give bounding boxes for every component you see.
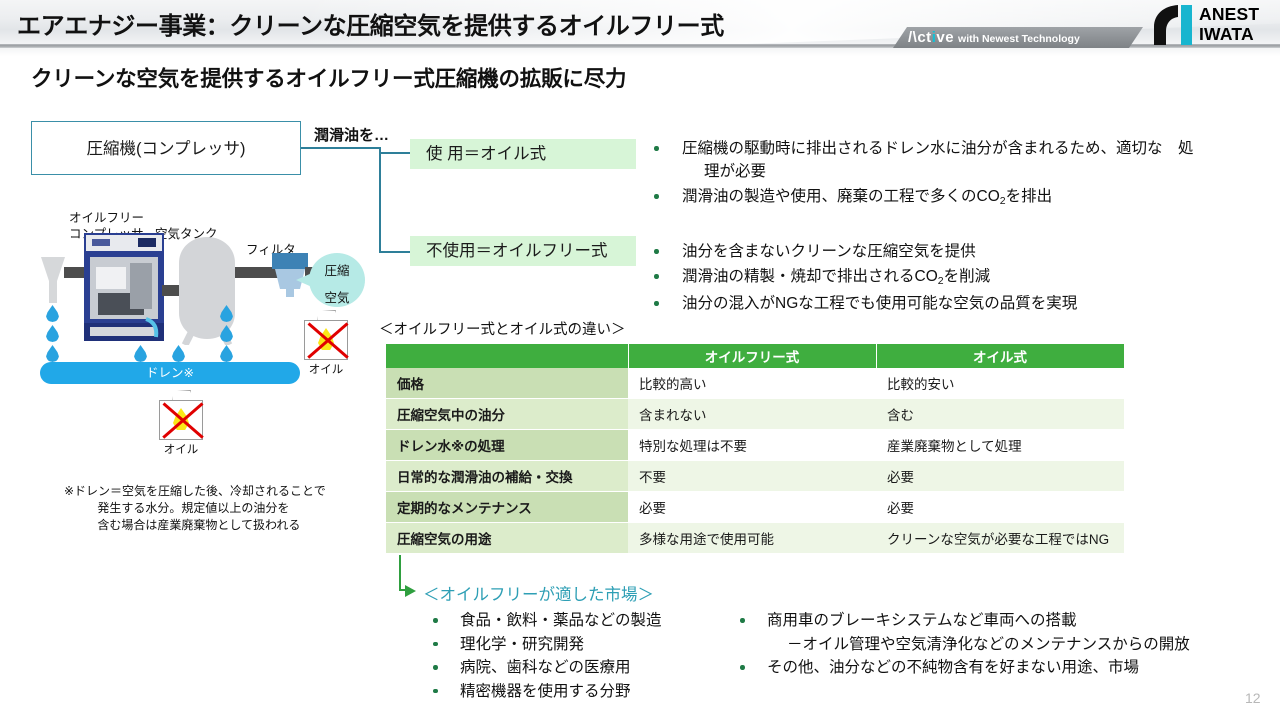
list-item: 理化学・研究開発 — [424, 633, 724, 657]
oil-bullet-list: 圧縮機の駆動時に排出されるドレン水に油分が含まれるため、適切な 処 理が必要 潤… — [644, 137, 1264, 212]
row-label: 圧縮空気中の油分 — [386, 399, 628, 430]
ribbon-brand-a: /\ct — [908, 29, 932, 46]
table-row: 圧縮空気の用途 多様な用途で使用可能 クリーンな空気が必要な工程ではNG — [386, 523, 1124, 554]
table-caption: ＜オイルフリー式とオイル式の違い＞ — [379, 318, 626, 339]
branch-box-oilfree: 不使用＝オイルフリー式 — [410, 236, 636, 266]
row-label: ドレン水※の処理 — [386, 430, 628, 461]
logo-text-line1: ANEST — [1199, 4, 1259, 24]
bubble-line1: 圧縮 — [309, 253, 365, 280]
water-drop — [46, 345, 59, 362]
table-header-row: オイルフリー式 オイル式 — [386, 344, 1124, 368]
no-oil-icon-right: オイル — [304, 315, 350, 361]
bullet-item: 潤滑油の製造や使用、廃棄の工程で多くのCO2を排出 — [644, 185, 1264, 210]
drain-footnote: ※ドレン＝空気を圧縮した後、冷却されることで 発生する水分。規定値以上の油分を … — [64, 483, 326, 534]
bullet-text: 圧縮機の駆動時に排出されるドレン水に油分が含まれるため、適切な 処 — [682, 140, 1194, 157]
cell-oil: 必要 — [876, 461, 1124, 492]
no-oil-caption: オイル — [159, 441, 203, 457]
branch-box-oilfree-label: 不使用＝オイルフリー式 — [426, 242, 608, 260]
list-item-text: 商用車のブレーキシステムなど車両への搭載 — [767, 612, 1077, 629]
bullet-item: 油分を含まないクリーンな圧縮空気を提供 — [644, 240, 1264, 263]
branch-box-oil-label: 使 用＝オイル式 — [426, 145, 546, 163]
drain-bar-label: ドレン※ — [40, 362, 300, 384]
ribbon-brand-b: ve — [936, 29, 954, 46]
anest-iwata-logo: ANEST IWATA — [1148, 3, 1276, 47]
table-header-cell-blank — [386, 344, 628, 368]
list-item: 食品・飲料・薬品などの製造 — [424, 609, 724, 633]
connector-branch-oil — [379, 152, 411, 154]
oilfree-compressor-icon — [84, 233, 164, 341]
water-drop — [220, 345, 233, 362]
list-item-subtext: －オイル管理や空気清浄化などのメンテナンスからの開放 — [767, 633, 1271, 657]
cell-oil: クリーンな空気が必要な工程ではNG — [876, 523, 1124, 554]
table-row: 定期的なメンテナンス 必要 必要 — [386, 492, 1124, 523]
row-label: 定期的なメンテナンス — [386, 492, 628, 523]
compressor-box-label: 圧縮機(コンプレッサ) — [32, 122, 300, 176]
water-drop — [46, 305, 59, 322]
row-label: 日常的な潤滑油の補給・交換 — [386, 461, 628, 492]
cell-oil: 含む — [876, 399, 1124, 430]
intake-funnel-icon — [39, 257, 67, 303]
lubricant-label: 潤滑油を… — [314, 124, 389, 145]
cell-oil: 産業廃棄物として処理 — [876, 430, 1124, 461]
row-label: 圧縮空気の用途 — [386, 523, 628, 554]
compressor-box: 圧縮機(コンプレッサ) — [31, 121, 301, 175]
page-title: エアエナジー事業：クリーンな圧縮空気を提供するオイルフリー式 — [17, 6, 917, 41]
table-row: 価格 比較的高い 比較的安い — [386, 368, 1124, 399]
bullet-item: 潤滑油の精製・焼却で排出されるCO2を削減 — [644, 265, 1264, 290]
water-drop — [46, 325, 59, 342]
bubble-line2: 空気 — [309, 280, 365, 307]
oilfree-bullet-list: 油分を含まないクリーンな圧縮空気を提供 潤滑油の精製・焼却で排出されるCO2を削… — [644, 240, 1264, 317]
cell-oilfree: 不要 — [628, 461, 876, 492]
market-heading: ＜オイルフリーが適した市場＞ — [423, 581, 654, 605]
header-divider-shadow — [0, 48, 1280, 56]
table-row: ドレン水※の処理 特別な処理は不要 産業廃棄物として処理 — [386, 430, 1124, 461]
cell-oilfree: 多様な用途で使用可能 — [628, 523, 876, 554]
ribbon-tagline: with Newest Technology — [958, 33, 1080, 45]
co2-subscript: 2 — [938, 275, 944, 287]
comparison-table: オイルフリー式 オイル式 価格 比較的高い 比較的安い 圧縮空気中の油分 含まれ… — [386, 344, 1125, 554]
table-header-cell-oil: オイル式 — [876, 344, 1124, 368]
slide-root: エアエナジー事業：クリーンな圧縮空気を提供するオイルフリー式 /\ctivewi… — [0, 0, 1280, 720]
market-list-left: 食品・飲料・薬品などの製造 理化学・研究開発 病院、歯科などの医療用 精密機器を… — [424, 609, 724, 703]
compressed-air-bubble: 圧縮 空気 — [309, 253, 365, 307]
water-drop — [134, 345, 147, 362]
bullet-item: 油分の混入がNGな工程でも使用可能な空気の品質を実現 — [644, 292, 1264, 315]
market-arrow-stem — [399, 555, 401, 591]
bullet-item: 圧縮機の駆動時に排出されるドレン水に油分が含まれるため、適切な 処 理が必要 — [644, 137, 1264, 183]
table-row: 日常的な潤滑油の補給・交換 不要 必要 — [386, 461, 1124, 492]
logo-text-line2: IWATA — [1199, 24, 1259, 44]
connector-vertical-trunk — [379, 147, 381, 253]
cell-oilfree: 必要 — [628, 492, 876, 523]
list-item: その他、油分などの不純物含有を好まない用途、市場 — [731, 656, 1271, 680]
bullet-text-post: を削減 — [944, 268, 991, 285]
active-ribbon-text: /\ctivewith Newest Technology — [908, 29, 1138, 47]
co2-subscript: 2 — [1000, 195, 1006, 207]
market-list-right: 商用車のブレーキシステムなど車両への搭載 －オイル管理や空気清浄化などのメンテナ… — [731, 609, 1271, 680]
list-item: 商用車のブレーキシステムなど車両への搭載 －オイル管理や空気清浄化などのメンテナ… — [731, 609, 1271, 656]
water-drop — [172, 345, 185, 362]
table-header-cell-oilfree: オイルフリー式 — [628, 344, 876, 368]
bullet-text: 油分を含まないクリーンな圧縮空気を提供 — [682, 243, 976, 260]
connector-branch-free — [379, 251, 411, 253]
system-illustration: オイルフリー コンプレッサ 空気タンク フィルタ — [24, 205, 374, 415]
page-number: 12 — [1245, 690, 1261, 706]
drain-bar: ドレン※ — [40, 362, 300, 384]
connector-horizontal-main — [301, 147, 381, 149]
table-row: 圧縮空気中の油分 含まれない 含む — [386, 399, 1124, 430]
list-item: 精密機器を使用する分野 — [424, 680, 724, 704]
bullet-text-pre: 潤滑油の精製・焼却で排出されるCO — [682, 268, 938, 285]
cell-oilfree: 特別な処理は不要 — [628, 430, 876, 461]
branch-box-oil: 使 用＝オイル式 — [410, 139, 636, 169]
bullet-text-continued: 理が必要 — [682, 160, 1264, 183]
slide-subtitle: クリーンな空気を提供するオイルフリー式圧縮機の拡販に尽力 — [31, 62, 626, 93]
no-oil-icon-bottom: オイル — [159, 395, 205, 441]
logo-cyan-bar — [1181, 5, 1192, 45]
cell-oilfree: 含まれない — [628, 399, 876, 430]
row-label: 価格 — [386, 368, 628, 399]
market-arrow-head-icon — [405, 585, 416, 597]
bullet-text: 油分の混入がNGな工程でも使用可能な空気の品質を実現 — [682, 295, 1077, 312]
bullet-text-post: を排出 — [1006, 188, 1053, 205]
cell-oilfree: 比較的高い — [628, 368, 876, 399]
bullet-text-pre: 潤滑油の製造や使用、廃棄の工程で多くのCO — [682, 188, 1000, 205]
no-oil-caption: オイル — [304, 361, 348, 377]
cell-oil: 必要 — [876, 492, 1124, 523]
logo-text: ANEST IWATA — [1199, 4, 1259, 44]
list-item: 病院、歯科などの医療用 — [424, 656, 724, 680]
cell-oil: 比較的安い — [876, 368, 1124, 399]
label-oilfree-line1: オイルフリー — [69, 211, 144, 226]
